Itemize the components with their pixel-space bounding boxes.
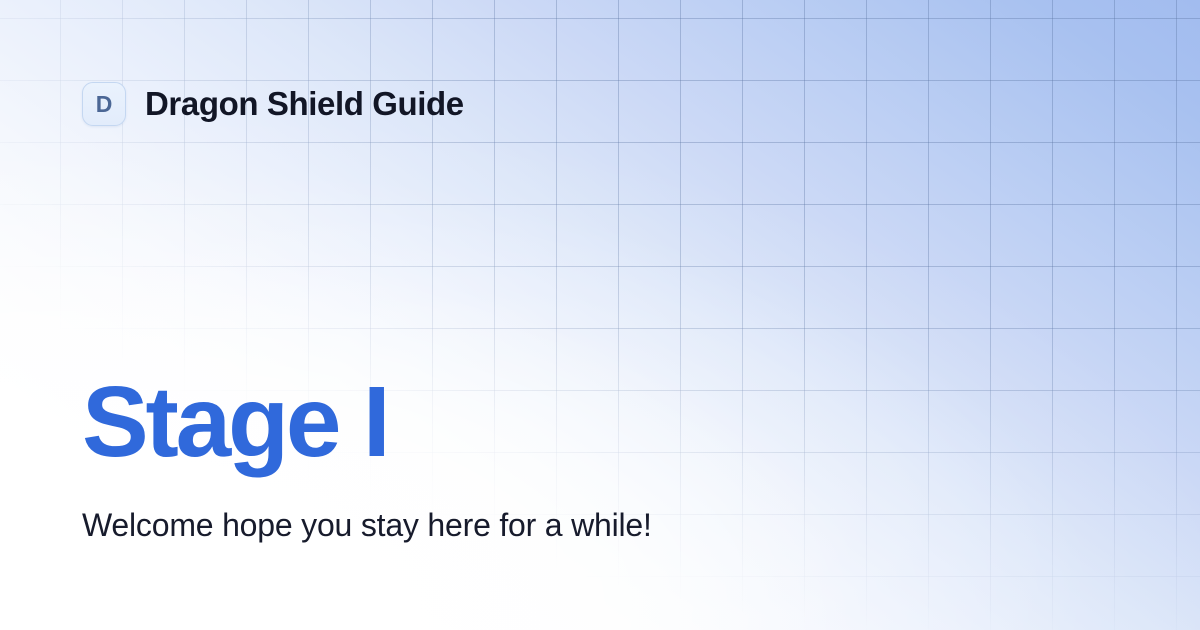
page-title: Stage I [82,372,1082,472]
brand-logo-icon: D [82,82,126,126]
brand-name-label: Dragon Shield Guide [145,85,464,123]
hero-section: Stage I Welcome hope you stay here for a… [82,372,1082,544]
banner-canvas: D Dragon Shield Guide Stage I Welcome ho… [0,0,1200,630]
brand-lockup[interactable]: D Dragon Shield Guide [82,82,464,126]
banner-content: D Dragon Shield Guide Stage I Welcome ho… [0,0,1200,630]
page-subtitle: Welcome hope you stay here for a while! [82,472,1082,544]
